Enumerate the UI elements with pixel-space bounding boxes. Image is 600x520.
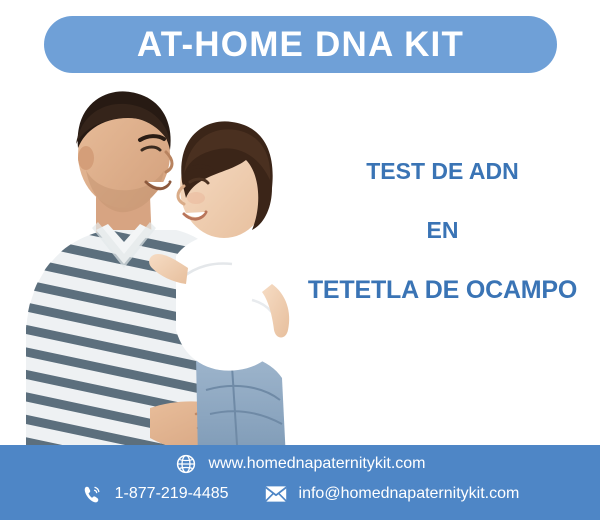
footer-bar: www.homednapaternitykit.com 1-877-219-44… <box>0 445 600 520</box>
page-title: AT-HOME DNA KIT <box>137 27 464 62</box>
footer-website-row: www.homednapaternitykit.com <box>0 453 600 475</box>
poster-canvas: AT-HOME DNA KIT <box>0 0 600 520</box>
headline-line-2: EN <box>300 219 585 242</box>
footer-email[interactable]: info@homednapaternitykit.com <box>265 483 520 505</box>
headline-line-3: TETETLA DE OCAMPO <box>300 278 585 303</box>
footer-website-label: www.homednapaternitykit.com <box>209 456 426 472</box>
envelope-icon <box>265 483 287 505</box>
footer-phone-label: 1-877-219-4485 <box>115 486 229 502</box>
footer-contact-row: 1-877-219-4485 info@homednapaternitykit.… <box>0 483 600 505</box>
family-photo-illustration <box>0 78 310 460</box>
headline-line-1: TEST DE ADN <box>300 160 585 183</box>
headline-block: TEST DE ADN EN TETETLA DE OCAMPO <box>300 160 585 303</box>
footer-email-label: info@homednapaternitykit.com <box>299 486 520 502</box>
header-banner: AT-HOME DNA KIT <box>44 16 557 73</box>
globe-icon <box>175 453 197 475</box>
footer-website[interactable]: www.homednapaternitykit.com <box>175 453 426 475</box>
family-photo <box>0 78 310 460</box>
footer-phone[interactable]: 1-877-219-4485 <box>81 483 229 505</box>
phone-icon <box>81 483 103 505</box>
